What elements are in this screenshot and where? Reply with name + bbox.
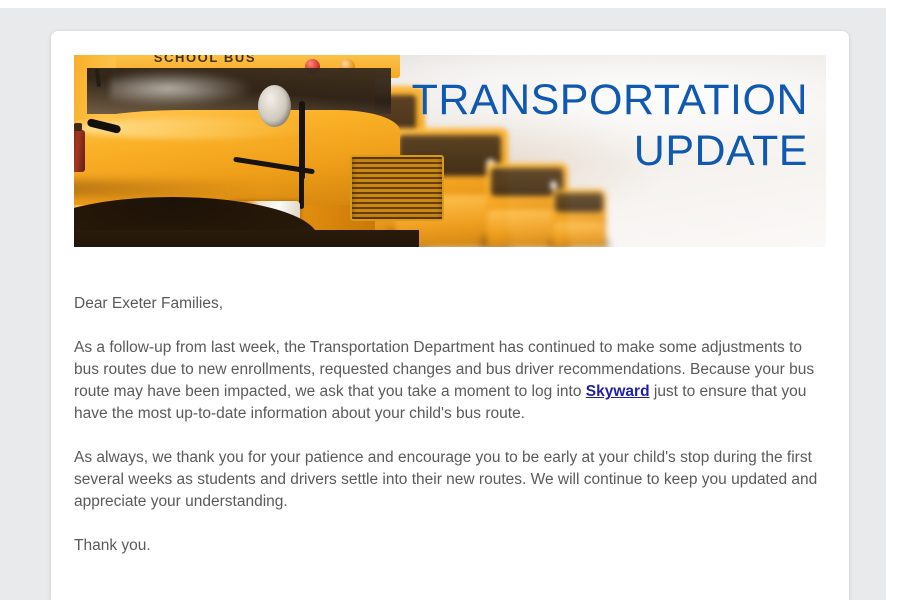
foreground-school-bus: SCHOOL BUS: [74, 55, 375, 247]
banner-headline-line-1: TRANSPORTATION: [412, 79, 808, 123]
distant-bus: [552, 189, 607, 247]
letter-body: Dear Exeter Families, As a follow-up fro…: [74, 293, 826, 557]
bus-side-mirror: [258, 85, 291, 127]
skyward-link[interactable]: Skyward: [586, 383, 650, 400]
bus-shadow-band: [74, 180, 261, 197]
bus-wiper: [95, 68, 101, 87]
windshield-reflection: [110, 70, 255, 107]
bus-lower-shadow: [74, 230, 419, 247]
letter-closing: Thank you.: [74, 535, 826, 557]
screenshot-viewport: SCHOOL BUS: [0, 0, 900, 600]
letter-greeting: Dear Exeter Families,: [74, 293, 826, 315]
bus-mirror-arm: [299, 176, 304, 209]
fire-extinguisher: [74, 130, 85, 172]
newsletter-card: SCHOOL BUS: [51, 31, 849, 600]
banner-headline: TRANSPORTATION UPDATE: [412, 79, 808, 174]
letter-paragraph-1: As a follow-up from last week, the Trans…: [74, 337, 826, 425]
banner-headline-line-2: UPDATE: [412, 130, 808, 174]
bus-roof-sign-text: SCHOOL BUS: [154, 55, 256, 65]
banner: SCHOOL BUS: [74, 55, 826, 247]
letter-paragraph-2: As always, we thank you for your patienc…: [74, 447, 826, 513]
vertical-scrollbar[interactable]: [886, 0, 900, 600]
